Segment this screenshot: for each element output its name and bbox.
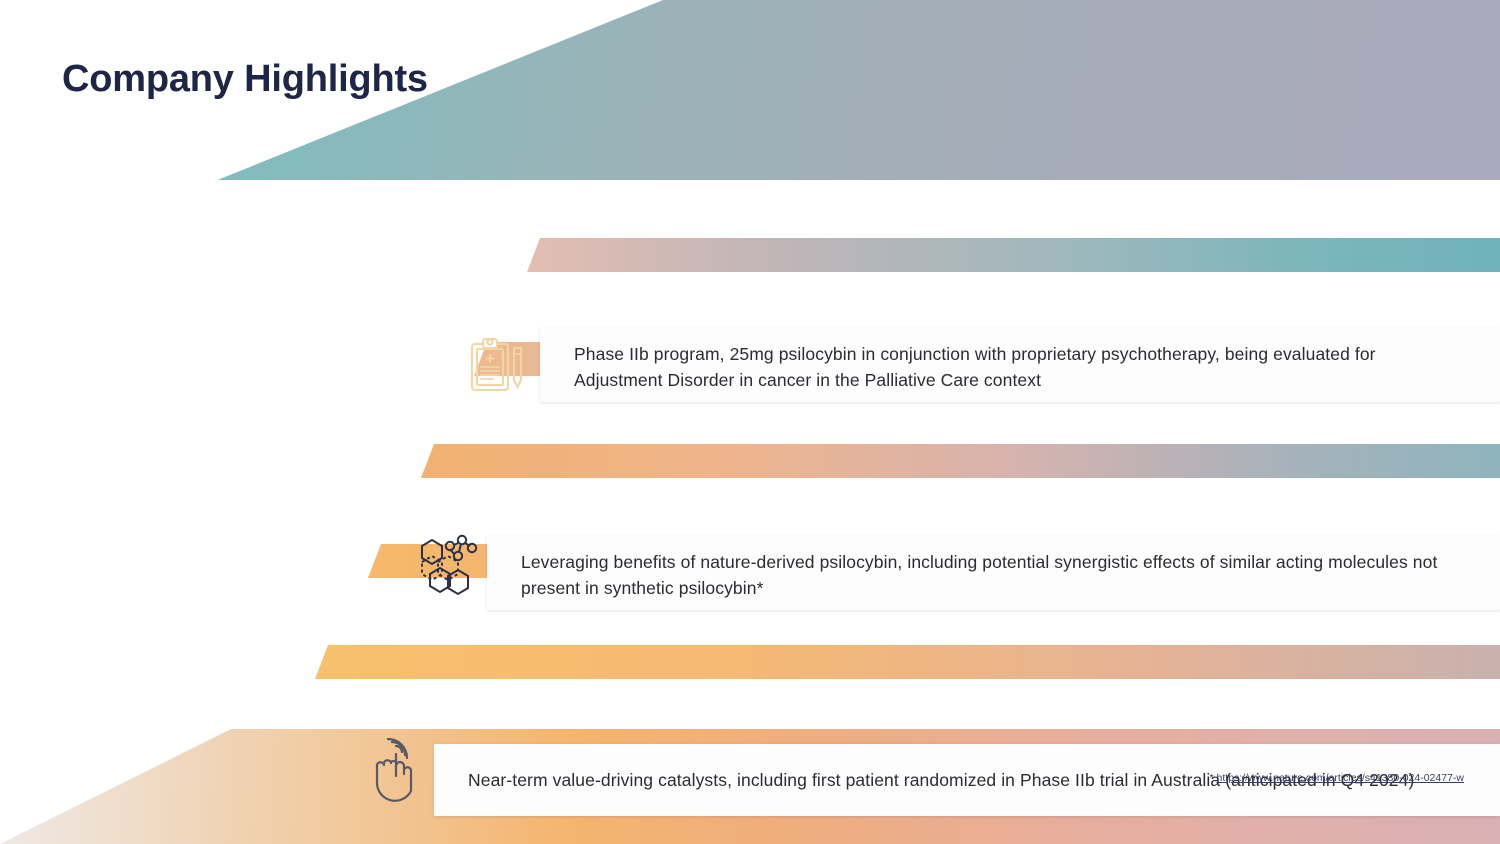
footnote: * https://www.nature.com/articles/s41380… bbox=[1210, 772, 1464, 784]
footnote-marker: * bbox=[1210, 772, 1214, 784]
highlight-text-1: Phase IIb program, 25mg psilocybin in co… bbox=[574, 341, 1464, 393]
highlight-text-2: Leveraging benefits of nature-derived ps… bbox=[521, 549, 1466, 601]
clipboard-pen-icon bbox=[466, 336, 528, 396]
background-shapes bbox=[0, 0, 1500, 844]
page-title: Company Highlights bbox=[62, 58, 428, 101]
gradient-strips bbox=[0, 0, 1500, 844]
slide-canvas: Company Highlights Phase IIb program, 25… bbox=[0, 0, 1500, 844]
molecule-icon bbox=[408, 534, 482, 606]
footnote-link[interactable]: https://www.nature.com/articles/s41380-0… bbox=[1217, 772, 1464, 784]
tap-hand-icon bbox=[366, 738, 428, 806]
